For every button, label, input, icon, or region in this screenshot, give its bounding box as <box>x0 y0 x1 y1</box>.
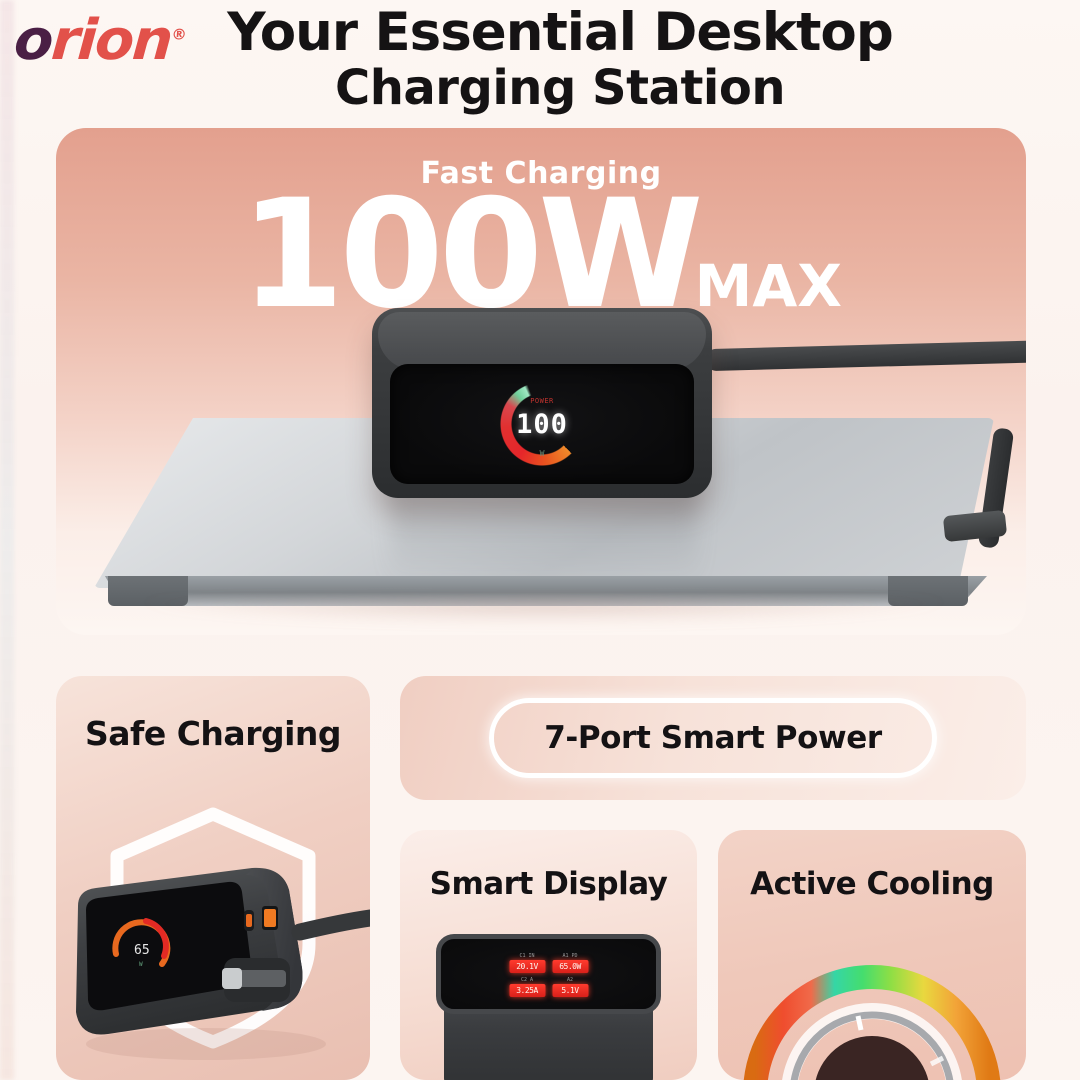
led-value: 3.25A <box>509 984 545 997</box>
charger-device-angled: 65 W <box>56 848 370 1078</box>
led-value: 5.1V <box>552 984 588 997</box>
hero-power-qualifier: MAX <box>695 252 842 320</box>
smart-display-title: Smart Display <box>400 866 697 902</box>
led-label: A2 <box>552 977 588 983</box>
svg-text:W: W <box>139 961 143 968</box>
feature-card-ports: 7-Port Smart Power <box>400 676 1026 800</box>
led-readout-grid: C1 IN 20.1V A1 PD 65.0W C2 A 3.25A A2 5.… <box>509 953 588 997</box>
charger-device-hero: POWER 100 W <box>372 308 712 498</box>
led-value: 65.0W <box>552 960 588 973</box>
logo-letters-rion: rion <box>49 8 173 73</box>
led-readout-cell: A2 5.1V <box>552 977 588 997</box>
led-readout-cell: A1 PD 65.0W <box>552 953 588 973</box>
power-gauge: POWER 100 W <box>499 381 585 467</box>
led-label: C1 IN <box>509 953 545 959</box>
logo-letter-o: o <box>12 8 54 73</box>
ports-title: 7-Port Smart Power <box>544 720 882 756</box>
gauge-unit: W <box>499 449 585 458</box>
active-cooling-title: Active Cooling <box>718 866 1026 902</box>
safe-charging-title: Safe Charging <box>56 714 370 753</box>
infographic-page: orion® Your Essential Desktop Charging S… <box>0 0 1080 1080</box>
headline-line-2: Charging Station <box>190 64 930 113</box>
brand-logo: orion® <box>12 8 189 73</box>
feature-card-active-cooling: Active Cooling <box>718 830 1026 1080</box>
charger-display-screen: POWER 100 W <box>390 364 694 484</box>
gauge-top-label: POWER <box>499 397 585 405</box>
laptop-drop-shadow <box>130 600 958 624</box>
led-label: C2 A <box>509 977 545 983</box>
gauge-value: 100 <box>499 409 585 440</box>
feature-card-safe-charging: Safe Charging <box>56 676 370 1080</box>
led-readout-cell: C2 A 3.25A <box>509 977 545 997</box>
temperature-gauge-icon <box>737 938 1007 1080</box>
hero-card: Fast Charging 100WMAX POWER 100 <box>56 128 1026 635</box>
charger-output-cable <box>706 339 1026 371</box>
header: orion® Your Essential Desktop Charging S… <box>0 0 1080 128</box>
headline-line-1: Your Essential Desktop <box>190 6 930 60</box>
led-label: A1 PD <box>552 953 588 959</box>
feature-card-smart-display: Smart Display C1 IN 20.1V A1 PD 65.0W C2… <box>400 830 697 1080</box>
led-readout-cell: C1 IN 20.1V <box>509 953 545 973</box>
charger-device-front: C1 IN 20.1V A1 PD 65.0W C2 A 3.25A A2 5.… <box>436 934 661 1080</box>
charger-front-screen: C1 IN 20.1V A1 PD 65.0W C2 A 3.25A A2 5.… <box>436 934 661 1014</box>
charger-top-surface <box>378 312 706 370</box>
ports-pill: 7-Port Smart Power <box>489 698 937 778</box>
registered-trademark-icon: ® <box>171 25 188 43</box>
page-title: Your Essential Desktop Charging Station <box>190 6 930 113</box>
svg-text:65: 65 <box>134 943 150 958</box>
led-value: 20.1V <box>509 960 545 973</box>
